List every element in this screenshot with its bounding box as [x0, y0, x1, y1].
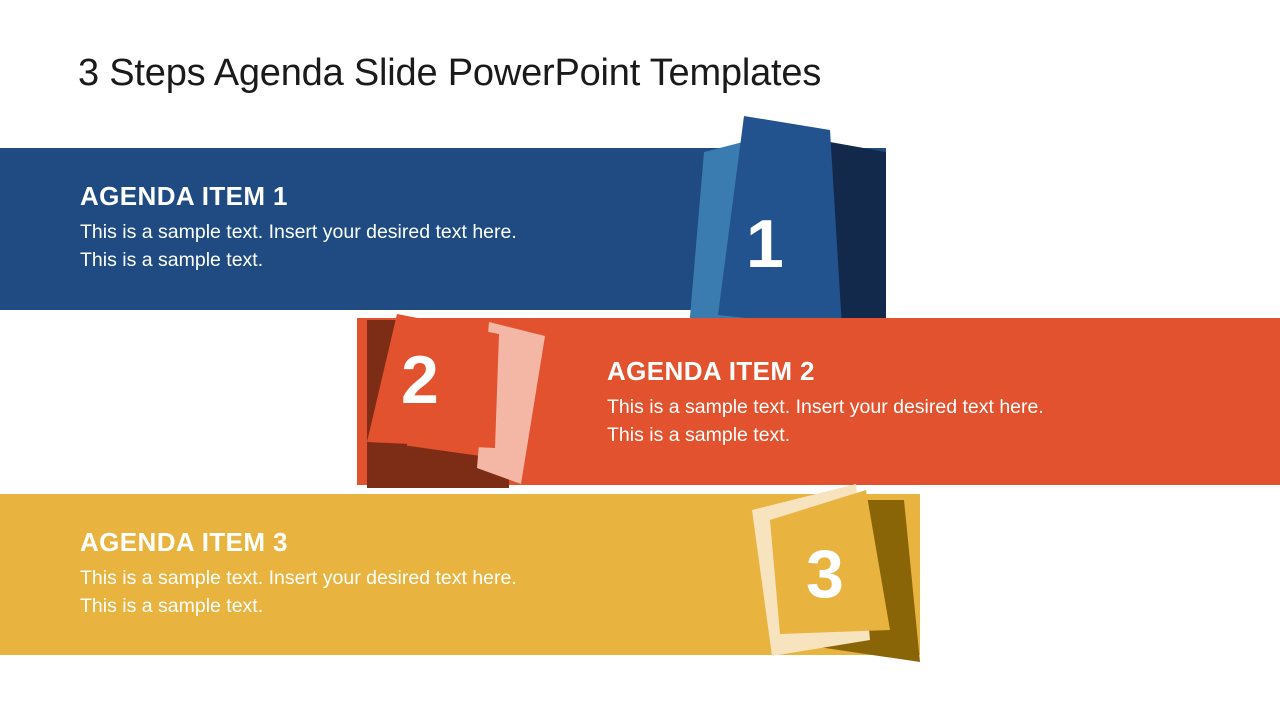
number-shape-stack-2 [349, 308, 584, 498]
agenda-desc-line2-1: This is a sample text. [80, 246, 517, 274]
agenda-text-2: AGENDA ITEM 2 This is a sample text. Ins… [607, 356, 1044, 449]
agenda-row-1[interactable]: 1 AGENDA ITEM 1 This is a sample text. I… [0, 148, 886, 310]
number-label-2: 2 [401, 346, 439, 414]
agenda-heading-2: AGENDA ITEM 2 [607, 356, 1044, 387]
agenda-heading-3: AGENDA ITEM 3 [80, 527, 517, 558]
slide-title: 3 Steps Agenda Slide PowerPoint Template… [78, 52, 821, 95]
number-graphic-1: 1 [680, 110, 910, 350]
number-graphic-3: 3 [738, 472, 938, 672]
agenda-heading-1: AGENDA ITEM 1 [80, 181, 517, 212]
agenda-desc-line2-3: This is a sample text. [80, 592, 517, 620]
number-shape-stack-1 [680, 110, 910, 350]
agenda-desc-line1-2: This is a sample text. Insert your desir… [607, 393, 1044, 421]
agenda-desc-line2-2: This is a sample text. [607, 421, 1044, 449]
agenda-slide: 3 Steps Agenda Slide PowerPoint Template… [0, 0, 1280, 720]
agenda-desc-line1-3: This is a sample text. Insert your desir… [80, 564, 517, 592]
number-graphic-2: 2 [349, 308, 584, 498]
number-label-3: 3 [806, 540, 844, 608]
agenda-text-3: AGENDA ITEM 3 This is a sample text. Ins… [80, 527, 517, 620]
agenda-row-3[interactable]: 3 AGENDA ITEM 3 This is a sample text. I… [0, 494, 920, 655]
agenda-desc-line1-1: This is a sample text. Insert your desir… [80, 218, 517, 246]
number-label-1: 1 [746, 210, 784, 278]
agenda-text-1: AGENDA ITEM 1 This is a sample text. Ins… [80, 181, 517, 274]
agenda-row-2[interactable]: 2 AGENDA ITEM 2 This is a sample text. I… [357, 318, 1280, 485]
